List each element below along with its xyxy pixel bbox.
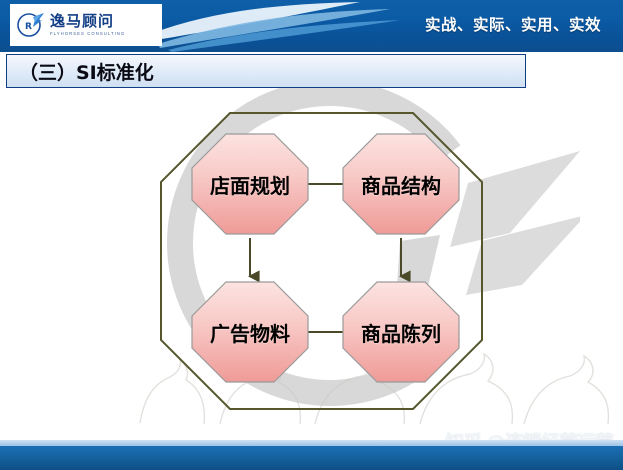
diagram-node-product-structure[interactable]: 商品结构 [341, 132, 461, 236]
diagram-node-label: 广告物料 [190, 280, 310, 384]
header-tagline: 实战、实际、实用、实效 [425, 13, 601, 35]
process-diagram [0, 88, 623, 433]
slide-root: R 逸马顾问 FLYHORSES CONSULTING 实战、实际、实用、实效 … [0, 0, 623, 470]
slide-body: 店面规划 商品结构 广告物料 商品陈列 [0, 88, 623, 433]
diagram-node-advertising-materials[interactable]: 广告物料 [190, 280, 310, 384]
page-title: （三）SI标准化 [19, 58, 154, 85]
logo-chinese-name: 逸马顾问 [50, 14, 125, 30]
diagram-node-label: 商品结构 [341, 132, 461, 236]
diagram-node-store-planning[interactable]: 店面规划 [190, 132, 310, 236]
company-logo: R 逸马顾问 FLYHORSES CONSULTING [10, 4, 162, 46]
diagram-node-label: 商品陈列 [341, 280, 461, 384]
slide-header: R 逸马顾问 FLYHORSES CONSULTING 实战、实际、实用、实效 [0, 0, 623, 52]
svg-text:R: R [25, 22, 32, 32]
slide-footer: 连锁经营全程实战专家 61 222 [0, 446, 623, 470]
slide-title-bar: （三）SI标准化 [6, 54, 526, 88]
flyhorse-logo-icon: R [16, 10, 46, 40]
logo-english-name: FLYHORSES CONSULTING [50, 31, 125, 36]
diagram-node-label: 店面规划 [190, 132, 310, 236]
diagram-node-product-display[interactable]: 商品陈列 [341, 280, 461, 384]
